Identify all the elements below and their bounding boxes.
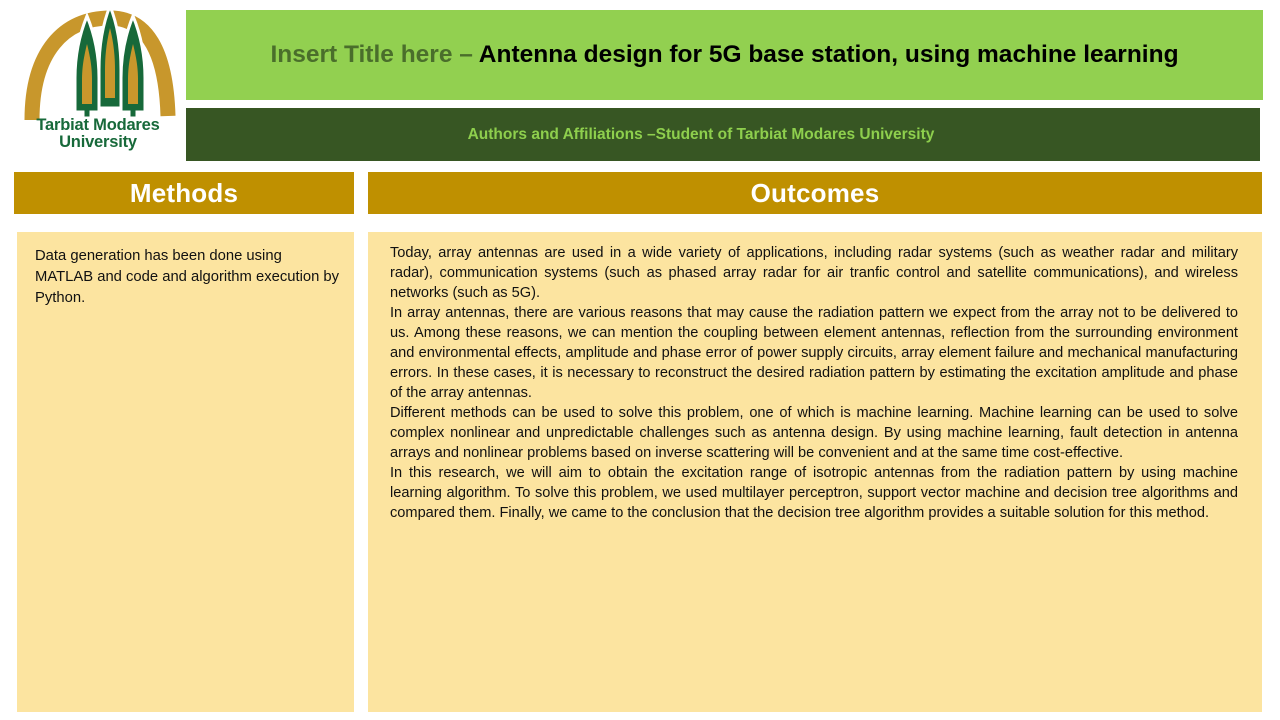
- logo-wordmark-line2: University: [14, 134, 182, 151]
- poster-title: Insert Title here – Antenna design for 5…: [270, 41, 1178, 70]
- methods-heading-label: Methods: [130, 178, 238, 209]
- methods-body-text: Data generation has been done using MATL…: [35, 246, 340, 309]
- logo-wordmark-line1: Tarbiat Modares: [14, 117, 182, 134]
- outcomes-paragraph: In this research, we will aim to obtain …: [390, 464, 1238, 524]
- poster-title-main: Antenna design for 5G base station, usin…: [479, 41, 1179, 68]
- university-logo-wordmark: Tarbiat Modares University: [14, 117, 182, 152]
- methods-section-body: Data generation has been done using MATL…: [17, 232, 354, 712]
- methods-section-header: Methods: [14, 172, 354, 214]
- outcomes-heading-label: Outcomes: [751, 178, 880, 209]
- university-logo-icon: [14, 4, 182, 122]
- poster-title-bar: Insert Title here – Antenna design for 5…: [186, 10, 1263, 100]
- outcomes-section-body: Today, array antennas are used in a wide…: [368, 232, 1262, 712]
- outcomes-paragraph: Today, array antennas are used in a wide…: [390, 244, 1238, 304]
- outcomes-paragraph: Different methods can be used to solve t…: [390, 404, 1238, 464]
- authors-affiliations-bar: Authors and Affiliations –Student of Tar…: [186, 108, 1260, 161]
- outcomes-paragraph: In array antennas, there are various rea…: [390, 304, 1238, 404]
- outcomes-section-header: Outcomes: [368, 172, 1262, 214]
- poster-title-placeholder: Insert Title here –: [270, 41, 478, 68]
- university-logo-block: Tarbiat Modares University: [14, 4, 182, 162]
- authors-affiliations-text: Authors and Affiliations –Student of Tar…: [468, 126, 935, 144]
- poster-header: Tarbiat Modares University Insert Title …: [0, 0, 1280, 165]
